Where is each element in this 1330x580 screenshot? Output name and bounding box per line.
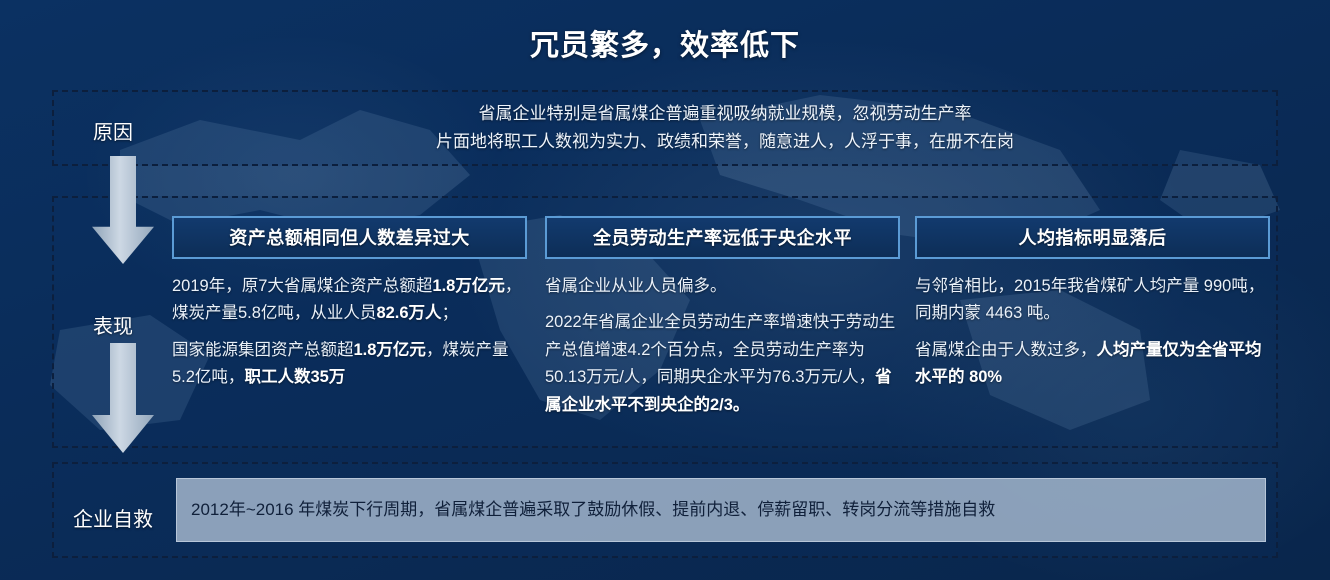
column-header: 资产总额相同但人数差异过大 <box>172 216 527 259</box>
down-arrow-icon <box>88 343 158 453</box>
row-label-self-help: 企业自救 <box>58 503 168 532</box>
cause-line-2: 片面地将职工人数视为实力、政绩和荣誉，随意进人，人浮于事，在册不在岗 <box>180 128 1270 156</box>
row-label-cause: 原因 <box>58 116 168 145</box>
self-help-panel: 2012年~2016 年煤炭下行周期，省属煤企普遍采取了鼓励休假、提前内退、停薪… <box>176 478 1266 542</box>
column-paragraph: 国家能源集团资产总额超1.8万亿元，煤炭产量5.2亿吨，职工人数35万 <box>172 337 527 392</box>
column-header: 全员劳动生产率远低于央企水平 <box>545 216 900 259</box>
column-paragraph: 2022年省属企业全员劳动生产率增速快于劳动生产总值增速4.2个百分点，全员劳动… <box>545 309 900 419</box>
appearance-column-2: 全员劳动生产率远低于央企水平 省属企业从业人员偏多。2022年省属企业全员劳动生… <box>545 216 900 419</box>
down-arrow-icon <box>88 156 158 264</box>
appearance-column-1: 资产总额相同但人数差异过大 2019年，原7大省属煤企资产总额超1.8万亿元，煤… <box>172 216 527 392</box>
appearance-column-3: 人均指标明显落后 与邻省相比，2015年我省煤矿人均产量 990吨，同期内蒙 4… <box>915 216 1270 392</box>
slide-title: 冗员繁多，效率低下 <box>0 22 1330 64</box>
column-paragraph: 2019年，原7大省属煤企资产总额超1.8万亿元，煤炭产量5.8亿吨，从业人员8… <box>172 273 527 328</box>
column-header: 人均指标明显落后 <box>915 216 1270 259</box>
row-label-appearance: 表现 <box>58 310 168 339</box>
column-paragraph: 省属企业从业人员偏多。 <box>545 273 900 300</box>
cause-text: 省属企业特别是省属煤企普遍重视吸纳就业规模，忽视劳动生产率 片面地将职工人数视为… <box>180 100 1270 155</box>
cause-line-1: 省属企业特别是省属煤企普遍重视吸纳就业规模，忽视劳动生产率 <box>180 100 1270 128</box>
column-paragraph: 与邻省相比，2015年我省煤矿人均产量 990吨，同期内蒙 4463 吨。 <box>915 273 1270 328</box>
column-body: 2019年，原7大省属煤企资产总额超1.8万亿元，煤炭产量5.8亿吨，从业人员8… <box>172 273 527 392</box>
column-body: 省属企业从业人员偏多。2022年省属企业全员劳动生产率增速快于劳动生产总值增速4… <box>545 273 900 419</box>
column-paragraph: 省属煤企由于人数过多，人均产量仅为全省平均水平的 80% <box>915 337 1270 392</box>
self-help-text: 2012年~2016 年煤炭下行周期，省属煤企普遍采取了鼓励休假、提前内退、停薪… <box>191 498 995 522</box>
column-body: 与邻省相比，2015年我省煤矿人均产量 990吨，同期内蒙 4463 吨。省属煤… <box>915 273 1270 392</box>
